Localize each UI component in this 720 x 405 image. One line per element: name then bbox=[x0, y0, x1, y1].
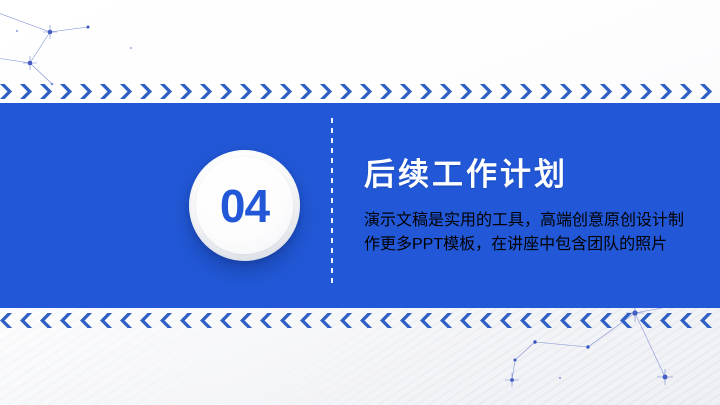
section-number-text: 04 bbox=[220, 183, 269, 229]
section-number-badge: 04 bbox=[189, 150, 300, 261]
slide-subtitle-line-1: 演示文稿是实用的工具，高端创意原创设计制 bbox=[364, 206, 694, 230]
page-title: 后续工作计划 bbox=[364, 158, 694, 194]
slide-text-block: 后续工作计划 演示文稿是实用的工具，高端创意原创设计制 作更多PPT模板，在讲座… bbox=[364, 158, 694, 270]
chevron-band-top bbox=[0, 84, 720, 99]
presentation-slide: 04 后续工作计划 演示文稿是实用的工具，高端创意原创设计制 作更多PPT模板，… bbox=[0, 0, 720, 405]
slide-subtitle-line-2: 作更多PPT模板，在讲座中包含团队的照片 bbox=[364, 230, 694, 254]
vertical-dashed-divider bbox=[331, 118, 333, 286]
chevron-band-bottom bbox=[0, 313, 720, 328]
